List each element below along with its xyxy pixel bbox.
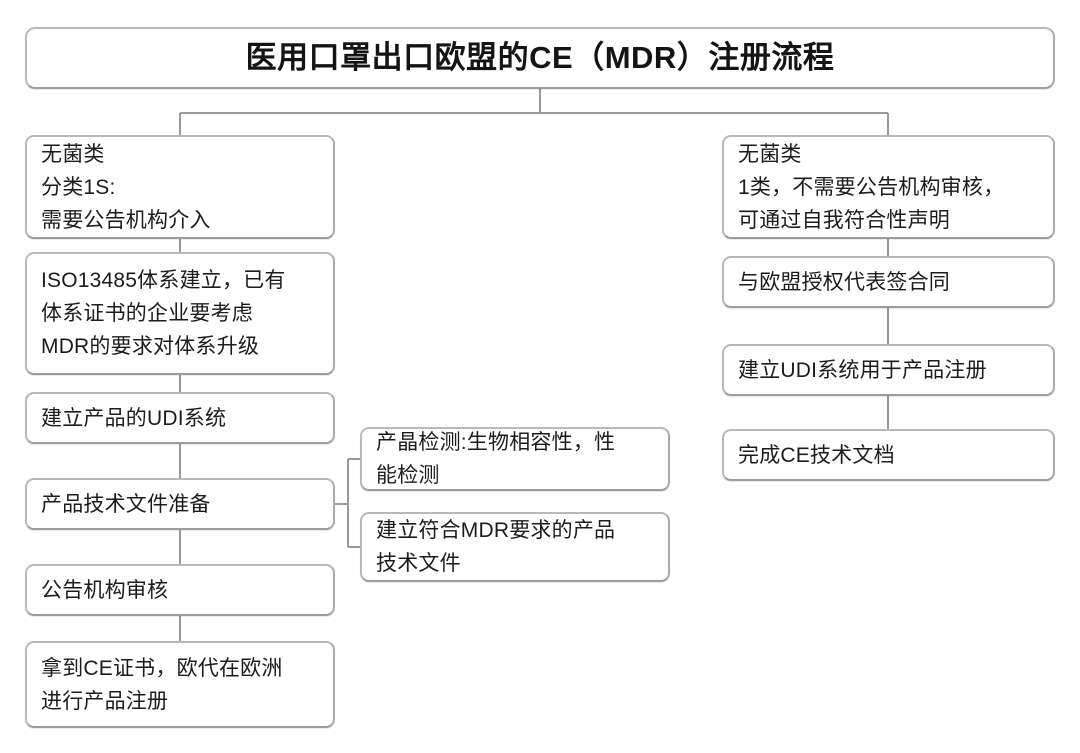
node-text: 与欧盟授权代表签合同 (738, 266, 1039, 299)
node-text: 建立产品的UDI系统 (41, 402, 319, 435)
node-text: 拿到CE证书，欧代在欧洲 进行产品注册 (41, 652, 319, 718)
node-left-sterile-class-1s[interactable]: 无菌类 分类1S: 需要公告机构介入 (25, 135, 335, 239)
node-left-iso13485-system[interactable]: ISO13485体系建立，已有 体系证书的企业要考虑 MDR的要求对体系升级 (25, 252, 335, 375)
node-left-technical-file-prep[interactable]: 产品技术文件准备 (25, 478, 335, 530)
node-middle-product-testing[interactable]: 产晶检测:生物相容性，性 能检测 (360, 427, 670, 491)
flowchart-title-text: 医用口罩出口欧盟的CE（MDR）注册流程 (41, 39, 1039, 77)
node-left-notified-body-audit[interactable]: 公告机构审核 (25, 564, 335, 616)
node-text: 公告机构审核 (41, 574, 319, 607)
node-text: ISO13485体系建立，已有 体系证书的企业要考虑 MDR的要求对体系升级 (41, 264, 319, 363)
node-left-build-udi-system[interactable]: 建立产品的UDI系统 (25, 392, 335, 444)
node-text: 无菌类 分类1S: 需要公告机构介入 (41, 138, 319, 237)
flowchart-title-box: 医用口罩出口欧盟的CE（MDR）注册流程 (25, 27, 1055, 89)
node-text: 产晶检测:生物相容性，性 能检测 (376, 426, 654, 492)
node-text: 建立UDI系统用于产品注册 (738, 354, 1039, 387)
node-text: 完成CE技术文档 (738, 439, 1039, 472)
node-right-complete-ce-docs[interactable]: 完成CE技术文档 (722, 429, 1055, 481)
node-text: 产品技术文件准备 (41, 488, 319, 521)
node-text: 无菌类 1类，不需要公告机构审核， 可通过自我符合性声明 (738, 138, 1039, 237)
node-text: 建立符合MDR要求的产品 技术文件 (376, 514, 654, 580)
node-middle-mdr-technical-file[interactable]: 建立符合MDR要求的产品 技术文件 (360, 512, 670, 582)
node-right-ec-rep-contract[interactable]: 与欧盟授权代表签合同 (722, 256, 1055, 308)
flowchart-canvas: 医用口罩出口欧盟的CE（MDR）注册流程 无菌类 分类1S: 需要公告机构介入 … (0, 0, 1080, 753)
node-right-udi-for-registration[interactable]: 建立UDI系统用于产品注册 (722, 344, 1055, 396)
node-right-sterile-class-1[interactable]: 无菌类 1类，不需要公告机构审核， 可通过自我符合性声明 (722, 135, 1055, 239)
node-left-receive-ce-certificate[interactable]: 拿到CE证书，欧代在欧洲 进行产品注册 (25, 641, 335, 728)
